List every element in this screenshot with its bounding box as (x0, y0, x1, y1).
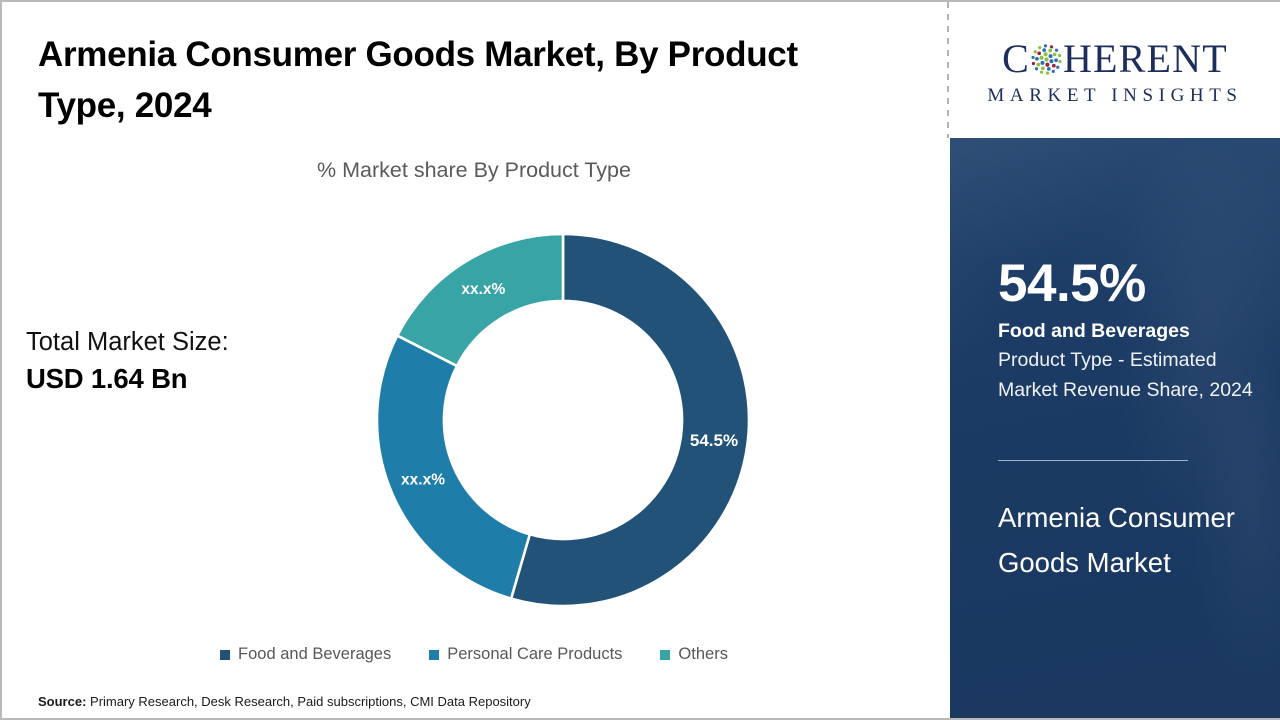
total-market-size-label: Total Market Size: (26, 324, 326, 360)
logo-tagline: MARKET INSIGHTS (987, 85, 1242, 107)
stat-percent-value: 54.5% (998, 256, 1260, 311)
logo-letter-c: C (1002, 39, 1030, 79)
legend-swatch-icon (220, 650, 230, 660)
donut-slice-label: 54.5% (690, 431, 738, 450)
highlight-panel: 54.5% Food and Beverages Product Type - … (950, 138, 1280, 718)
legend-item[interactable]: Others (660, 645, 728, 664)
donut-chart-svg: 54.5%xx.x%xx.x% (377, 234, 749, 606)
total-market-size: Total Market Size: USD 1.64 Bn (26, 324, 326, 399)
globe-icon (1031, 44, 1062, 75)
chart-legend: Food and Beverages Personal Care Product… (2, 645, 946, 664)
donut-slice-label: xx.x% (461, 281, 505, 298)
donut-slice-label: xx.x% (401, 472, 445, 489)
total-market-size-value: USD 1.64 Bn (26, 360, 326, 399)
legend-item-label: Personal Care Products (447, 645, 622, 664)
logo[interactable]: C HERENT MARKET INSIGHTS (950, 2, 1280, 138)
logo-wordmark: C HERENT (1002, 37, 1228, 81)
brand-panel: C HERENT MARKET INSIGHTS 54.5% Food and … (950, 2, 1280, 718)
legend-swatch-icon (429, 650, 439, 660)
donut-slices (377, 234, 749, 606)
infographic-page: Armenia Consumer Goods Market, By Produc… (0, 0, 1280, 720)
stat-divider (998, 460, 1188, 461)
legend-item[interactable]: Food and Beverages (220, 645, 391, 664)
market-name: Armenia Consumer Goods Market (998, 496, 1266, 585)
logo-word-herent: HERENT (1063, 39, 1228, 79)
chart-panel: Armenia Consumer Goods Market, By Produc… (2, 2, 946, 718)
page-title: Armenia Consumer Goods Market, By Produc… (38, 30, 888, 132)
stat-description: Product Type - Estimated Market Revenue … (998, 346, 1260, 405)
stat-category-label: Food and Beverages (998, 319, 1260, 344)
donut-slice[interactable] (377, 336, 530, 599)
chart-subtitle: % Market share By Product Type (2, 158, 946, 183)
stat-block: 54.5% Food and Beverages Product Type - … (998, 256, 1260, 406)
source-note: Source: Primary Research, Desk Research,… (38, 694, 531, 709)
legend-item[interactable]: Personal Care Products (429, 645, 622, 664)
source-label: Source: (38, 694, 86, 709)
panel-divider (947, 2, 949, 138)
source-text: Primary Research, Desk Research, Paid su… (86, 694, 530, 709)
donut-slice[interactable] (397, 234, 563, 366)
legend-item-label: Food and Beverages (238, 645, 391, 664)
legend-item-label: Others (678, 645, 728, 664)
donut-chart: 54.5%xx.x%xx.x% (377, 234, 749, 606)
legend-swatch-icon (660, 650, 670, 660)
